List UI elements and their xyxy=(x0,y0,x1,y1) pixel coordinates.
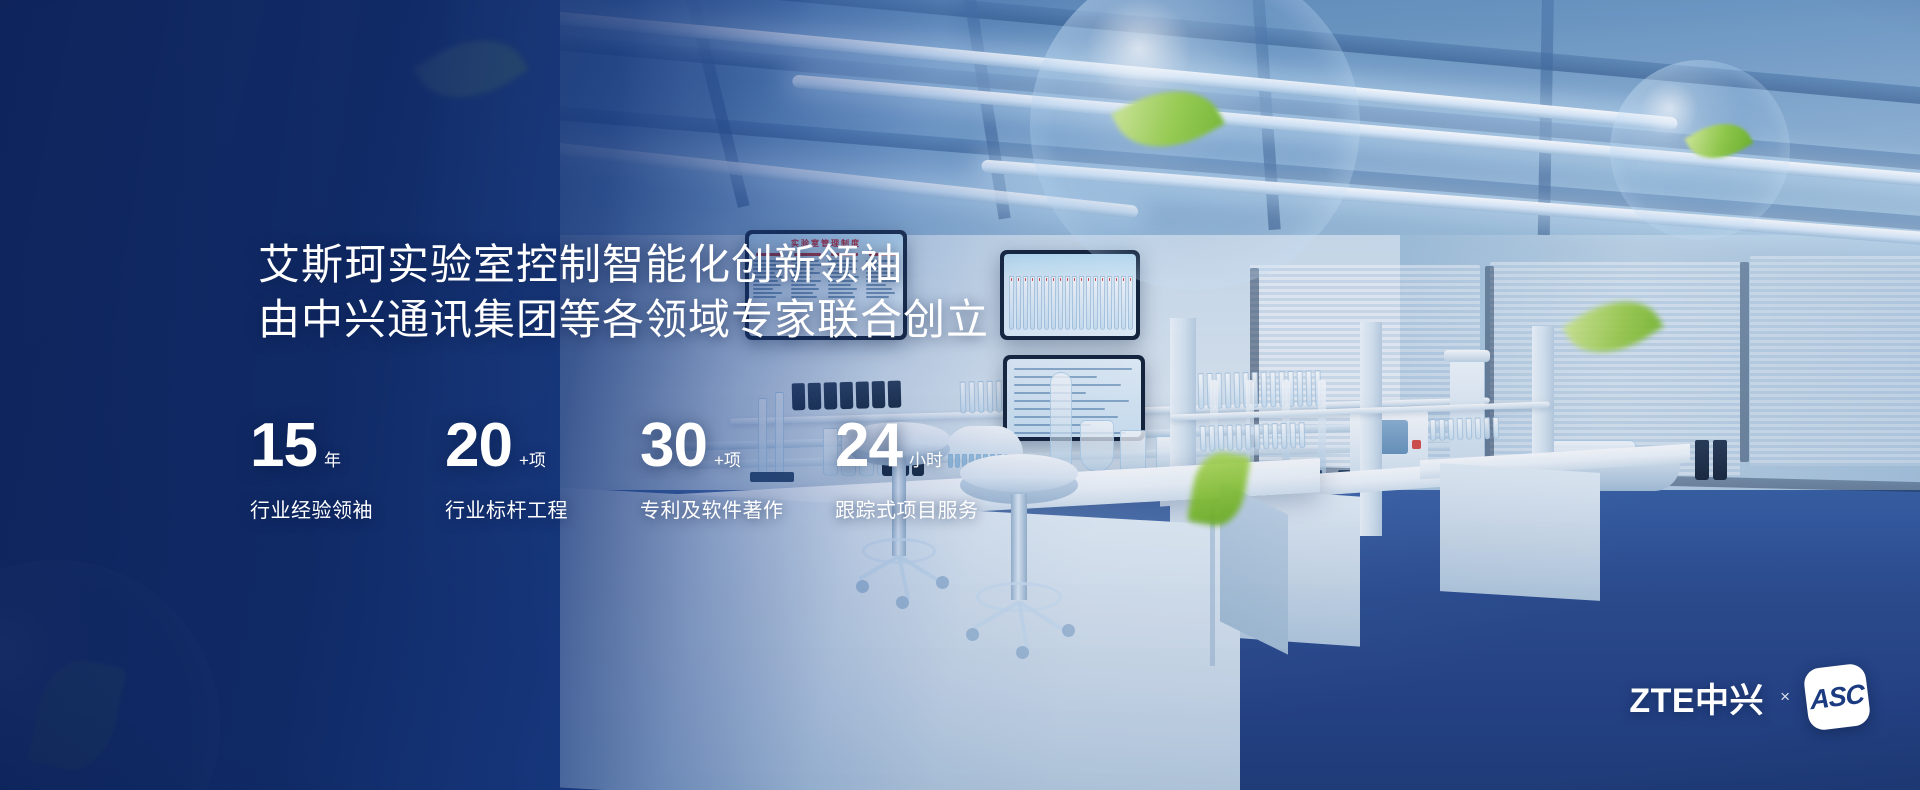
stat-item-patents: 30 +项 专利及软件著作 xyxy=(640,415,835,523)
stat-number: 20 xyxy=(445,415,512,477)
wall-trim xyxy=(1740,262,1749,462)
zte-brand-logo: ZTE中兴 xyxy=(1629,673,1764,722)
fume-apparatus-head xyxy=(1444,350,1490,362)
stool-caster xyxy=(1016,646,1029,659)
stat-label: 跟踪式项目服务 xyxy=(835,494,1030,523)
stat-label: 行业经验领袖 xyxy=(250,494,445,523)
island-bench-seam xyxy=(1210,506,1215,666)
headline-line-1: 艾斯珂实验室控制智能化创新领袖 xyxy=(258,238,989,293)
stool-caster xyxy=(936,576,949,589)
stat-item-service: 24 小时 跟踪式项目服务 xyxy=(835,415,1030,523)
stat-number: 30 xyxy=(640,415,707,477)
banner-stage: 实验室管理制度 xyxy=(0,0,1920,790)
side-bench-tubes-2 xyxy=(1430,417,1500,441)
reagent-bottle-group-dark xyxy=(1695,440,1727,480)
stool-caster xyxy=(856,580,869,593)
side-bench-body-2 xyxy=(1440,463,1600,601)
window-blind xyxy=(1750,256,1920,466)
stat-number: 24 xyxy=(835,415,902,477)
asc-logo-text: ASC xyxy=(1809,678,1864,716)
stat-item-projects: 20 +项 行业标杆工程 xyxy=(445,415,640,523)
stool-caster xyxy=(896,596,909,609)
stat-item-experience: 15 年 行业经验领袖 xyxy=(250,415,445,523)
asc-brand-logo: ASC xyxy=(1802,662,1871,731)
stat-number: 15 xyxy=(250,415,317,477)
logo-lockup: ZTE中兴 × ASC xyxy=(1629,666,1868,728)
stat-number-row: 30 +项 xyxy=(640,415,835,477)
headline-line-2: 由中兴通讯集团等各领域专家联合创立 xyxy=(258,293,989,348)
logo-separator-icon: × xyxy=(1780,687,1790,707)
stat-label: 专利及软件著作 xyxy=(640,494,835,523)
stool-caster xyxy=(1062,624,1075,637)
stat-label: 行业标杆工程 xyxy=(445,494,640,523)
stat-unit: 小时 xyxy=(909,446,943,471)
reagent-bottle-group xyxy=(792,381,902,411)
side-bench-tubes xyxy=(1200,422,1306,452)
stool-caster xyxy=(966,628,979,641)
stats-row: 15 年 行业经验领袖 20 +项 行业标杆工程 30 +项 专利及软件著作 2… xyxy=(250,415,1030,523)
stat-unit: +项 xyxy=(714,446,741,471)
stat-number-row: 20 +项 xyxy=(445,415,640,477)
screen-vial-graphic xyxy=(1009,276,1133,330)
stat-number-row: 24 小时 xyxy=(835,415,1030,477)
stat-unit: 年 xyxy=(324,446,341,471)
bench-support-column xyxy=(1360,322,1382,536)
stat-number-row: 15 年 xyxy=(250,415,445,477)
stat-unit: +项 xyxy=(519,446,546,471)
analyzer-indicator xyxy=(1412,440,1421,449)
headline-block: 艾斯珂实验室控制智能化创新领袖 由中兴通讯集团等各领域专家联合创立 xyxy=(258,238,989,347)
